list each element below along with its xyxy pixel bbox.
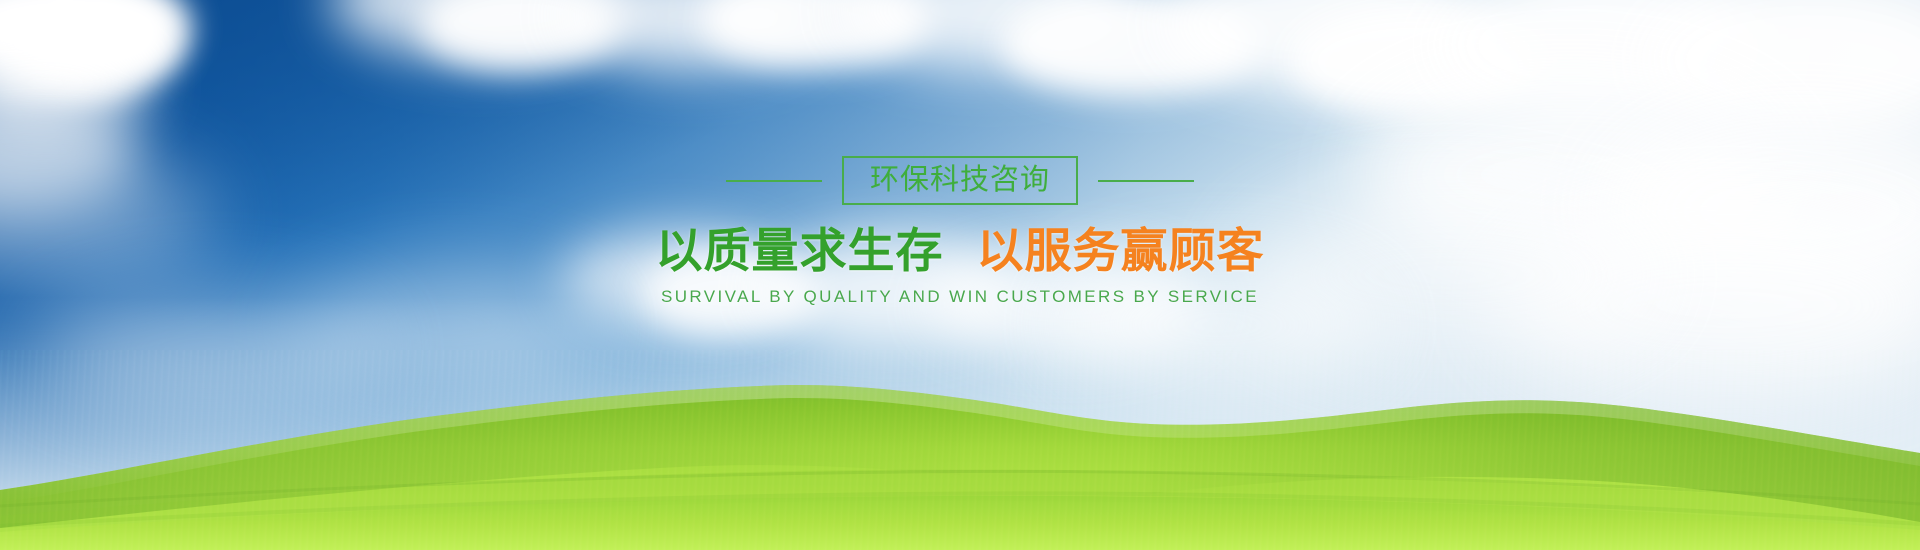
grass-hills-shape: [0, 290, 1920, 550]
subtitle: SURVIVAL BY QUALITY AND WIN CUSTOMERS BY…: [0, 287, 1920, 307]
grass-hills: [0, 290, 1920, 550]
eyebrow-box: 环保科技咨询: [842, 156, 1078, 205]
decorative-rule-left: [726, 180, 822, 182]
eyebrow-label: 环保科技咨询: [870, 165, 1050, 194]
headline: 以质量求生存 以服务赢顾客: [0, 228, 1920, 275]
eyebrow-row: 环保科技咨询: [0, 156, 1920, 205]
headline-primary: 以质量求生存: [656, 224, 944, 279]
headline-secondary: 以服务赢顾客: [976, 224, 1264, 279]
hero-banner: 环保科技咨询 以质量求生存 以服务赢顾客 SURVIVAL BY QUALITY…: [0, 0, 1920, 550]
decorative-rule-right: [1098, 180, 1194, 182]
